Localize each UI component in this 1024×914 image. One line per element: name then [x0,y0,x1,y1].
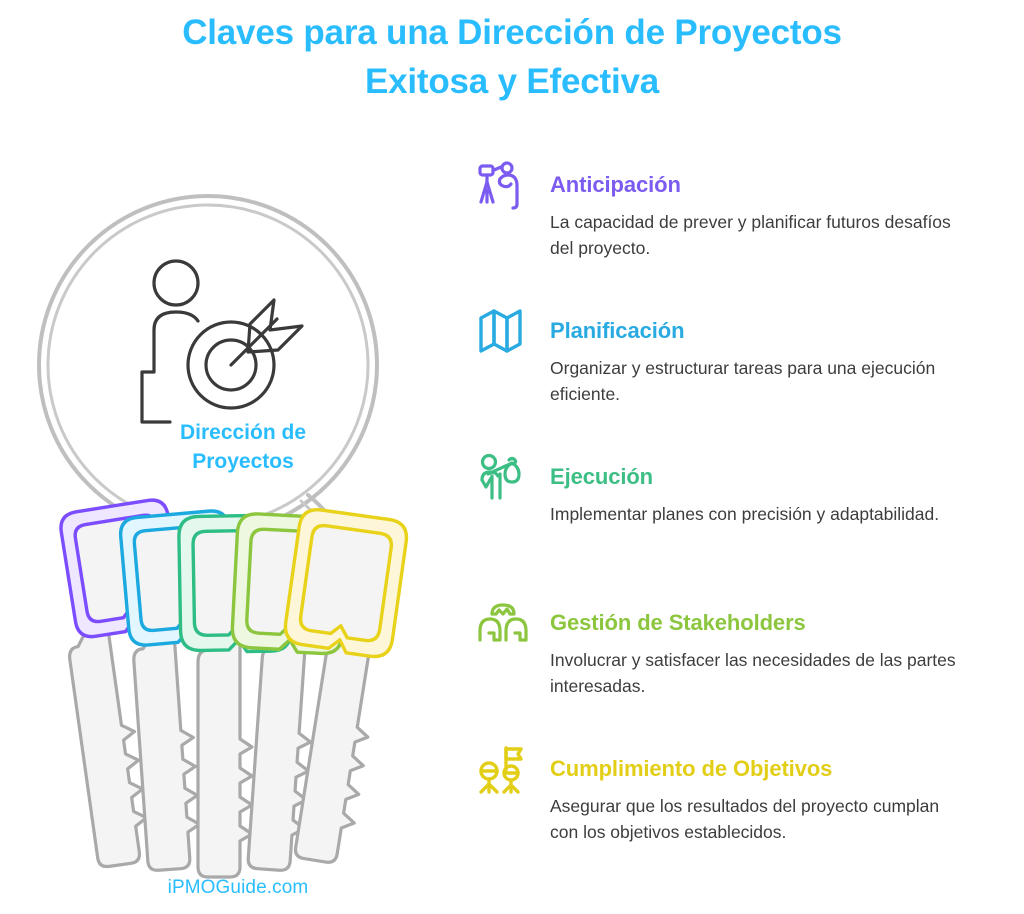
feature-description-ejecucion: Implementar planes con precisión y adapt… [550,501,970,527]
feature-description-anticipacion: La capacidad de prever y planificar futu… [550,209,970,261]
key-head-objetivos [283,507,409,659]
page-title-line-1: Claves para una Dirección de Proyectos [0,8,1024,57]
keyring-illustration: Dirección de Proyectos iPMOGuide.com [8,150,468,910]
person-target-icon [142,261,302,422]
feature-title-stakeholders: Gestión de Stakeholders [550,596,1012,638]
feature-title-anticipacion: Anticipación [550,158,1012,200]
keyring-graphic [8,150,468,910]
feature-item-ejecucion: Ejecución Implementar planes con precisi… [472,450,1012,568]
page-title-line-2: Exitosa y Efectiva [0,57,1024,106]
feature-item-anticipacion: Anticipación La capacidad de prever y pl… [472,158,1012,276]
key-heads [59,498,409,659]
feature-description-planificacion: Organizar y estructurar tareas para una … [550,355,970,407]
feature-title-ejecucion: Ejecución [550,450,1012,492]
people-flag-icon [476,744,530,798]
feature-item-objetivos: Cumplimiento de Objetivos Asegurar que l… [472,742,1012,860]
feature-title-objetivos: Cumplimiento de Objetivos [550,742,1012,784]
page-header: Claves para una Dirección de Proyectos E… [0,0,1024,106]
person-bundle-icon [476,452,530,506]
folded-map-icon [476,306,530,360]
people-group-icon [476,598,530,652]
feature-description-stakeholders: Involucrar y satisfacer las necesidades … [550,647,970,699]
feature-description-objetivos: Asegurar que los resultados del proyecto… [550,793,970,845]
feature-list: Anticipación La capacidad de prever y pl… [472,158,1012,888]
telescope-person-icon [476,160,530,214]
feature-title-planificacion: Planificación [550,304,1012,346]
feature-item-planificacion: Planificación Organizar y estructurar ta… [472,304,1012,422]
feature-item-stakeholders: Gestión de Stakeholders Involucrar y sat… [472,596,1012,714]
brand-watermark: iPMOGuide.com [8,877,468,899]
